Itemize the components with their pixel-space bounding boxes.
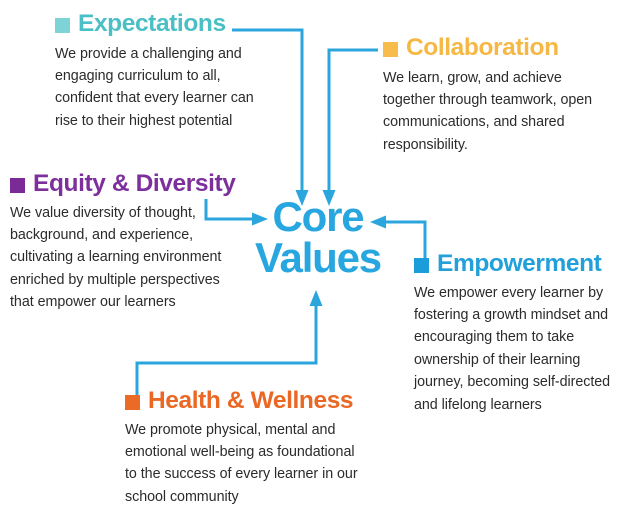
value-title-text-health-and-wellness: Health & Wellness <box>148 389 353 414</box>
value-body-text-equity-and-diversity: We value diversity of thought, backgroun… <box>10 202 245 314</box>
arrowhead-icon-health <box>310 290 323 306</box>
center-label-line-2: Values <box>243 237 393 278</box>
value-body-health-and-wellness: We promote physical, mental and emotiona… <box>125 419 370 509</box>
value-body-collaboration: We learn, grow, and achieve together thr… <box>383 67 598 157</box>
center-label-core-values: Core Values <box>243 196 393 278</box>
value-title-text-collaboration: Collaboration <box>406 36 559 61</box>
value-body-text-collaboration: We learn, grow, and achieve together thr… <box>383 67 598 157</box>
value-body-text-expectations: We provide a challenging and engaging cu… <box>55 43 270 133</box>
value-body-text-health-and-wellness: We promote physical, mental and emotiona… <box>125 419 370 509</box>
value-title-empowerment: Empowerment <box>414 252 618 277</box>
value-body-equity-and-diversity: We value diversity of thought, backgroun… <box>10 202 245 314</box>
value-title-text-expectations: Expectations <box>78 12 226 37</box>
value-body-expectations: We provide a challenging and engaging cu… <box>55 43 270 133</box>
value-node-expectations: Expectations We provide a challenging an… <box>55 12 285 132</box>
value-body-text-empowerment: We empower every learner by fostering a … <box>414 282 614 417</box>
square-marker-icon-collaboration <box>383 42 398 57</box>
value-title-equity-and-diversity: Equity & Diversity <box>10 172 250 197</box>
value-title-expectations: Expectations <box>55 12 285 37</box>
connector-health <box>137 302 316 400</box>
value-node-empowerment: Empowerment We empower every learner by … <box>414 252 618 416</box>
square-marker-icon-expectations <box>55 18 70 33</box>
value-node-equity-and-diversity: Equity & Diversity We value diversity of… <box>10 172 250 314</box>
square-marker-icon-health-and-wellness <box>125 395 140 410</box>
value-node-health-and-wellness: Health & Wellness We promote physical, m… <box>125 389 375 508</box>
value-title-health-and-wellness: Health & Wellness <box>125 389 375 414</box>
value-title-collaboration: Collaboration <box>383 36 613 61</box>
connector-collaboration <box>329 50 378 194</box>
core-values-diagram: Core Values Expectations We provide a ch… <box>0 0 618 516</box>
center-label-line-1: Core <box>243 196 393 237</box>
square-marker-icon-equity-and-diversity <box>10 178 25 193</box>
value-body-empowerment: We empower every learner by fostering a … <box>414 282 614 417</box>
value-title-text-empowerment: Empowerment <box>437 252 601 277</box>
value-title-text-equity-and-diversity: Equity & Diversity <box>33 172 235 197</box>
square-marker-icon-empowerment <box>414 258 429 273</box>
value-node-collaboration: Collaboration We learn, grow, and achiev… <box>383 36 613 156</box>
